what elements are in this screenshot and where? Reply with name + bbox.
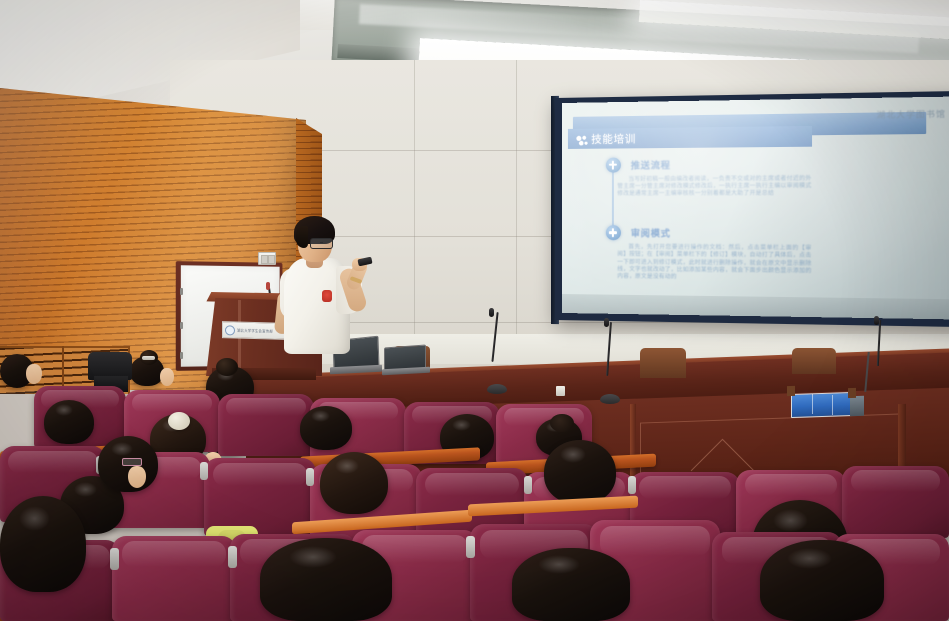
microphone-head-2 [604, 318, 609, 327]
slide-section-heading-1: 推送流程 [631, 158, 671, 171]
slide-connector-line [612, 166, 613, 230]
audience-head-2-3 [300, 406, 352, 450]
plus-node-icon-1 [605, 157, 620, 172]
microphone-head-5 [874, 316, 879, 325]
plaque-seal-icon [225, 325, 235, 335]
seat-clip-8 [466, 536, 475, 558]
audience-face-1 [160, 368, 174, 386]
audience-head-2-1 [44, 400, 94, 444]
blue-box-seam-1 [812, 394, 813, 414]
wall-seam-v1 [414, 60, 415, 360]
slide-title: 技能培训 [591, 128, 636, 149]
diamond-bullet-icon [576, 135, 588, 147]
audience-face-0 [26, 364, 42, 384]
audience-glasses-icon [122, 458, 142, 466]
microphone-head-1 [489, 308, 494, 317]
stage-chair-2 [640, 348, 686, 378]
audience-head-front-4 [760, 540, 884, 621]
audience-head-front-1 [0, 496, 86, 592]
slide-section-heading-2: 审阅模式 [631, 226, 671, 239]
presenter-sideburn [296, 226, 308, 248]
whiteboard-clip-3 [180, 352, 183, 359]
audience-head-front-3 [512, 548, 630, 621]
plaque-text: 湖北大学学生会宣传部 [237, 328, 273, 334]
audience-head-front-2 [260, 538, 392, 621]
blue-box-seam-2 [832, 395, 833, 415]
microphone-base-1 [487, 384, 507, 394]
slide-title-bar: 技能培训 [568, 126, 812, 149]
hair-bun-2 [216, 358, 238, 376]
audience-head-3-3 [544, 440, 616, 504]
audience-face-3 [128, 466, 146, 488]
seat-clip-4 [524, 476, 532, 494]
seat-row2-9[interactable] [842, 466, 949, 538]
audience-head-3-2 [320, 452, 388, 514]
seat-row3-2[interactable] [112, 536, 236, 621]
slide-section-body-2: 首先，先打开您要进行操作的文档：然后，点击菜单栏上面的【审阅】按钮；在【审阅】菜… [617, 244, 811, 284]
seat-clip-2 [200, 462, 208, 480]
whiteboard-clip-2 [180, 322, 183, 329]
seat-clip-5 [628, 476, 636, 494]
microphone-base-2 [600, 394, 620, 404]
box-bracket-left [787, 386, 795, 396]
slide-section-body-1: 当写好初稿一般由编改者阅读，一负责不交或对的主席或者付近的外管主席一分管主席对修… [617, 175, 811, 198]
box-bracket-right [848, 388, 856, 398]
hair-clip-1 [142, 356, 155, 360]
stage-chair-3 [792, 348, 836, 374]
scrunchie-icon [168, 412, 190, 430]
whiteboard-clip-1 [180, 288, 183, 295]
seat-clip-3 [306, 468, 314, 486]
blue-equipment-box[interactable] [791, 392, 853, 418]
presenter-glasses [310, 238, 333, 249]
shirt-logo [322, 290, 332, 302]
paper-cup [556, 386, 565, 396]
seat-clip-7 [228, 546, 237, 568]
wall-seam-v2 [516, 60, 517, 360]
lecture-hall-photo: 湖北大学图书馆 技能培训 推送流程 当写好初稿一般由编改者阅读，一负责不交或对的… [0, 0, 949, 621]
seat-clip-6 [110, 548, 119, 570]
hair-bun-3 [550, 414, 574, 432]
university-logo-watermark: 湖北大学图书馆 [865, 104, 949, 125]
projection-screen[interactable]: 湖北大学图书馆 技能培训 推送流程 当写好初稿一般由编改者阅读，一负责不交或对的… [562, 96, 949, 319]
microphone-head-4 [266, 282, 270, 290]
light-switch-plate[interactable] [258, 252, 276, 265]
equipment-box-side [850, 396, 864, 416]
plus-node-icon-2 [605, 225, 620, 240]
